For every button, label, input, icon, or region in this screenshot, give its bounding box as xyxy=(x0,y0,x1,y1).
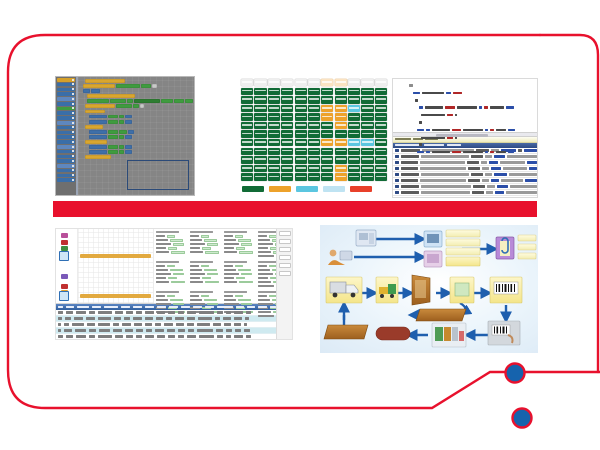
palette-block[interactable] xyxy=(57,78,75,82)
seat-cell[interactable] xyxy=(295,122,307,129)
form-field-value[interactable] xyxy=(241,243,252,246)
seat-cell[interactable] xyxy=(335,113,347,120)
form-field-row[interactable] xyxy=(156,295,188,298)
seat-cell[interactable] xyxy=(308,156,320,163)
seat-cell[interactable] xyxy=(295,105,307,112)
seat-cell[interactable] xyxy=(375,105,387,112)
seat-cell[interactable] xyxy=(241,130,253,137)
seat-cell[interactable] xyxy=(335,96,347,103)
seat-cell[interactable] xyxy=(268,148,280,155)
form-field-row[interactable] xyxy=(190,269,222,272)
form-field-row[interactable] xyxy=(156,299,188,302)
code-block[interactable] xyxy=(89,115,107,119)
seat-cell[interactable] xyxy=(268,156,280,163)
seat-cell[interactable] xyxy=(268,96,280,103)
seat-cell[interactable] xyxy=(241,165,253,172)
form-field-value[interactable] xyxy=(236,247,245,250)
block-row[interactable] xyxy=(79,145,193,149)
code-block[interactable] xyxy=(85,104,115,108)
code-block[interactable] xyxy=(89,150,107,154)
schedule-node[interactable] xyxy=(59,251,69,261)
form-field-row[interactable] xyxy=(156,277,188,280)
code-block[interactable] xyxy=(108,150,118,154)
seat-cell[interactable] xyxy=(361,79,373,86)
seat-cell[interactable] xyxy=(375,139,387,146)
form-field-row[interactable] xyxy=(224,295,256,298)
form-card[interactable] xyxy=(224,231,256,259)
sidebar-action-button[interactable] xyxy=(279,247,291,252)
seat-cell[interactable] xyxy=(241,105,253,112)
code-block[interactable] xyxy=(108,145,118,149)
schedule-rail[interactable] xyxy=(56,229,78,303)
palette-block[interactable] xyxy=(57,121,75,125)
seat-cell[interactable] xyxy=(308,130,320,137)
data-grid-column-header[interactable] xyxy=(169,306,178,308)
form-field-row[interactable] xyxy=(190,251,222,254)
seat-cell[interactable] xyxy=(295,156,307,163)
seat-cell[interactable] xyxy=(254,113,266,120)
schedule-marker[interactable] xyxy=(61,274,68,279)
seat-cell[interactable] xyxy=(308,139,320,146)
seat-cell[interactable] xyxy=(268,139,280,146)
sidebar-action-button[interactable] xyxy=(279,255,291,260)
code-block[interactable] xyxy=(85,155,111,159)
palette-block[interactable] xyxy=(57,92,75,96)
log-row[interactable] xyxy=(393,190,537,196)
code-block[interactable] xyxy=(140,104,144,108)
seat-cell[interactable] xyxy=(361,139,373,146)
seat-cell[interactable] xyxy=(321,79,333,86)
form-card[interactable] xyxy=(224,291,256,319)
form-card[interactable] xyxy=(156,261,188,289)
form-card[interactable] xyxy=(190,231,222,259)
palette-block[interactable] xyxy=(57,107,75,111)
form-field-row[interactable] xyxy=(190,243,222,246)
code-block[interactable] xyxy=(161,99,173,103)
form-field-row[interactable] xyxy=(190,265,222,268)
block-row[interactable] xyxy=(79,140,193,144)
seat-cell[interactable] xyxy=(321,148,333,155)
block-row[interactable] xyxy=(79,110,193,114)
data-grid-column-header[interactable] xyxy=(157,306,166,308)
block-row[interactable] xyxy=(79,79,193,83)
data-grid-column-header[interactable] xyxy=(104,306,118,308)
form-field-row[interactable] xyxy=(156,239,188,242)
form-field-value[interactable] xyxy=(170,239,183,242)
block-row[interactable] xyxy=(79,99,193,103)
palette-block[interactable] xyxy=(57,111,75,115)
code-block[interactable] xyxy=(119,120,124,124)
code-block[interactable] xyxy=(119,135,124,139)
code-block[interactable] xyxy=(174,99,184,103)
seat-cell[interactable] xyxy=(281,105,293,112)
form-field-value[interactable] xyxy=(205,281,219,284)
code-block[interactable] xyxy=(87,94,135,98)
form-field-row[interactable] xyxy=(190,281,222,284)
code-block[interactable] xyxy=(83,89,90,93)
code-block[interactable] xyxy=(85,125,103,129)
palette-block[interactable] xyxy=(57,135,75,139)
gantt-chart-area[interactable] xyxy=(78,229,154,303)
seat-cell[interactable] xyxy=(335,130,347,137)
form-field-value[interactable] xyxy=(239,281,253,284)
form-field-value[interactable] xyxy=(201,295,209,298)
data-grid-column-header[interactable] xyxy=(270,306,276,308)
data-grid-column-header[interactable] xyxy=(205,306,214,308)
seat-cell[interactable] xyxy=(348,105,360,112)
form-field-row[interactable] xyxy=(224,277,256,280)
seat-cell[interactable] xyxy=(254,130,266,137)
seat-cell[interactable] xyxy=(361,148,373,155)
form-field-value[interactable] xyxy=(241,303,252,306)
form-field-value[interactable] xyxy=(238,269,251,272)
seat-cell[interactable] xyxy=(295,113,307,120)
form-field-row[interactable] xyxy=(190,235,222,238)
form-field-value[interactable] xyxy=(167,235,175,238)
seat-cell[interactable] xyxy=(361,173,373,180)
seat-cell[interactable] xyxy=(375,156,387,163)
seat-cell[interactable] xyxy=(281,165,293,172)
seat-cell[interactable] xyxy=(254,148,266,155)
seat-cell[interactable] xyxy=(241,148,253,155)
form-field-value[interactable] xyxy=(170,299,183,302)
gantt-bar[interactable] xyxy=(80,254,151,258)
block-row[interactable] xyxy=(79,94,193,98)
seat-cell[interactable] xyxy=(321,105,333,112)
seat-cell[interactable] xyxy=(254,165,266,172)
code-block[interactable] xyxy=(141,84,151,88)
code-block[interactable] xyxy=(91,89,100,93)
seat-cell[interactable] xyxy=(254,139,266,146)
data-grid-column-header[interactable] xyxy=(92,306,101,308)
seat-cell[interactable] xyxy=(361,96,373,103)
seat-cell[interactable] xyxy=(281,139,293,146)
seat-cell[interactable] xyxy=(295,139,307,146)
seat-cell[interactable] xyxy=(308,88,320,95)
form-field-value[interactable] xyxy=(207,243,218,246)
seat-cell[interactable] xyxy=(308,173,320,180)
form-field-value[interactable] xyxy=(202,277,211,280)
seat-cell[interactable] xyxy=(295,96,307,103)
code-block[interactable] xyxy=(89,120,107,124)
form-field-row[interactable] xyxy=(224,269,256,272)
form-field-row[interactable] xyxy=(224,247,256,250)
schedule-marker[interactable] xyxy=(61,240,68,245)
form-card[interactable] xyxy=(156,231,188,259)
code-block[interactable] xyxy=(108,115,118,119)
scrollbar-thumb[interactable] xyxy=(436,134,488,137)
seat-cell[interactable] xyxy=(348,139,360,146)
seat-cell[interactable] xyxy=(254,156,266,163)
seat-cell[interactable] xyxy=(268,173,280,180)
seat-cell[interactable] xyxy=(241,139,253,146)
seat-cell[interactable] xyxy=(348,96,360,103)
block-row[interactable] xyxy=(79,130,193,134)
seat-cell[interactable] xyxy=(281,130,293,137)
palette-block[interactable] xyxy=(57,102,75,106)
seat-cell[interactable] xyxy=(335,148,347,155)
data-grid-column-header[interactable] xyxy=(66,306,74,308)
form-field-value[interactable] xyxy=(239,251,253,254)
palette-block[interactable] xyxy=(57,155,75,159)
form-field-row[interactable] xyxy=(190,299,222,302)
form-field-row[interactable] xyxy=(156,247,188,250)
code-block[interactable] xyxy=(110,99,126,103)
palette-block[interactable] xyxy=(57,116,75,120)
seat-cell[interactable] xyxy=(241,96,253,103)
form-field-row[interactable] xyxy=(224,265,256,268)
schedule-marker[interactable] xyxy=(61,284,68,289)
seat-cell[interactable] xyxy=(335,165,347,172)
code-block[interactable] xyxy=(119,150,124,154)
code-block[interactable] xyxy=(108,135,118,139)
block-row[interactable] xyxy=(79,125,193,129)
seat-cell[interactable] xyxy=(335,79,347,86)
seat-cell[interactable] xyxy=(361,156,373,163)
form-field-value[interactable] xyxy=(201,265,209,268)
palette-block[interactable] xyxy=(57,159,75,163)
block-row[interactable] xyxy=(79,150,193,154)
seat-cell[interactable] xyxy=(335,122,347,129)
seat-cell[interactable] xyxy=(348,88,360,95)
seat-cell[interactable] xyxy=(361,165,373,172)
block-row[interactable] xyxy=(79,84,193,88)
seat-cell[interactable] xyxy=(375,79,387,86)
form-field-value[interactable] xyxy=(235,265,243,268)
seat-cell[interactable] xyxy=(361,130,373,137)
seat-cell[interactable] xyxy=(268,165,280,172)
block-row[interactable] xyxy=(79,120,193,124)
code-block[interactable] xyxy=(89,130,107,134)
form-field-value[interactable] xyxy=(173,243,184,246)
form-card[interactable] xyxy=(156,291,188,319)
form-field-row[interactable] xyxy=(190,295,222,298)
seat-cell[interactable] xyxy=(375,96,387,103)
seat-cell[interactable] xyxy=(348,173,360,180)
schedule-node[interactable] xyxy=(59,291,69,301)
form-field-row[interactable] xyxy=(224,273,256,276)
palette-block[interactable] xyxy=(57,178,75,182)
form-field-value[interactable] xyxy=(171,251,185,254)
form-field-row[interactable] xyxy=(224,303,256,306)
form-field-value[interactable] xyxy=(235,235,243,238)
form-field-row[interactable] xyxy=(156,235,188,238)
seat-cell[interactable] xyxy=(268,113,280,120)
seat-cell[interactable] xyxy=(254,88,266,95)
form-field-value[interactable] xyxy=(202,247,211,250)
seat-cell[interactable] xyxy=(348,156,360,163)
code-block[interactable] xyxy=(125,135,132,139)
form-field-row[interactable] xyxy=(156,269,188,272)
form-field-row[interactable] xyxy=(156,281,188,284)
code-block[interactable] xyxy=(116,84,140,88)
seat-cell[interactable] xyxy=(375,165,387,172)
data-grid-column-header[interactable] xyxy=(258,306,267,308)
seat-cell[interactable] xyxy=(348,113,360,120)
palette-block[interactable] xyxy=(57,97,75,101)
code-block[interactable] xyxy=(108,130,118,134)
seat-cell[interactable] xyxy=(321,88,333,95)
block-row[interactable] xyxy=(79,89,193,93)
seat-cell[interactable] xyxy=(241,156,253,163)
form-field-row[interactable] xyxy=(224,239,256,242)
palette-block[interactable] xyxy=(57,126,75,130)
code-block[interactable] xyxy=(87,99,109,103)
seat-cell[interactable] xyxy=(295,79,307,86)
seat-cell[interactable] xyxy=(348,122,360,129)
code-block[interactable] xyxy=(89,145,107,149)
seat-cell[interactable] xyxy=(335,88,347,95)
data-grid-column-header[interactable] xyxy=(247,306,255,308)
code-block[interactable] xyxy=(89,135,107,139)
form-field-row[interactable] xyxy=(190,273,222,276)
form-field-value[interactable] xyxy=(241,273,252,276)
form-field-row[interactable] xyxy=(156,265,188,268)
code-block[interactable] xyxy=(152,84,157,88)
palette-block[interactable] xyxy=(57,88,75,92)
block-row[interactable] xyxy=(79,135,193,139)
seat-cell[interactable] xyxy=(361,105,373,112)
seat-cell[interactable] xyxy=(308,122,320,129)
seat-cell[interactable] xyxy=(268,105,280,112)
seat-cell[interactable] xyxy=(295,88,307,95)
seat-cell[interactable] xyxy=(308,105,320,112)
schedule-marker[interactable] xyxy=(61,233,68,238)
seat-cell[interactable] xyxy=(308,96,320,103)
block-row[interactable] xyxy=(79,104,193,108)
palette-block[interactable] xyxy=(57,164,75,168)
seat-cell[interactable] xyxy=(375,173,387,180)
seat-cell[interactable] xyxy=(281,96,293,103)
seat-cell[interactable] xyxy=(295,130,307,137)
seat-cell[interactable] xyxy=(241,88,253,95)
seat-cell[interactable] xyxy=(335,156,347,163)
form-field-value[interactable] xyxy=(201,235,209,238)
seat-cell[interactable] xyxy=(321,122,333,129)
seat-cell[interactable] xyxy=(241,79,253,86)
code-block[interactable] xyxy=(83,84,115,88)
form-field-row[interactable] xyxy=(156,243,188,246)
form-field-value[interactable] xyxy=(207,273,218,276)
seat-grid[interactable] xyxy=(240,78,388,182)
seat-cell[interactable] xyxy=(268,122,280,129)
form-field-row[interactable] xyxy=(156,251,188,254)
horizontal-scrollbar[interactable] xyxy=(393,132,537,137)
palette-block[interactable] xyxy=(57,83,75,87)
form-field-value[interactable] xyxy=(168,247,177,250)
code-block[interactable] xyxy=(127,99,133,103)
code-block[interactable] xyxy=(85,110,105,114)
seat-cell[interactable] xyxy=(335,139,347,146)
seat-cell[interactable] xyxy=(361,88,373,95)
seat-cell[interactable] xyxy=(254,96,266,103)
blocks-palette[interactable] xyxy=(56,77,76,195)
palette-block[interactable] xyxy=(57,169,75,173)
code-block[interactable] xyxy=(119,145,124,149)
palette-block[interactable] xyxy=(57,174,75,178)
code-block[interactable] xyxy=(133,104,139,108)
form-field-value[interactable] xyxy=(236,277,245,280)
sidebar-buttons-pane[interactable] xyxy=(276,229,292,339)
block-row[interactable] xyxy=(79,115,193,119)
code-block[interactable] xyxy=(85,140,107,144)
form-field-value[interactable] xyxy=(167,295,175,298)
code-block[interactable] xyxy=(128,130,134,134)
seat-cell[interactable] xyxy=(281,148,293,155)
seat-cell[interactable] xyxy=(348,79,360,86)
data-grid-column-header[interactable] xyxy=(181,306,190,308)
form-field-value[interactable] xyxy=(238,239,251,242)
seat-cell[interactable] xyxy=(335,105,347,112)
seat-cell[interactable] xyxy=(281,113,293,120)
form-cards-area[interactable] xyxy=(154,229,292,303)
seat-cell[interactable] xyxy=(335,173,347,180)
data-grid-column-header[interactable] xyxy=(145,306,154,308)
data-grid-column-header[interactable] xyxy=(236,306,244,308)
seat-cell[interactable] xyxy=(321,113,333,120)
data-grid-column-header[interactable] xyxy=(77,306,89,308)
seat-cell[interactable] xyxy=(281,88,293,95)
form-field-row[interactable] xyxy=(224,251,256,254)
seat-cell[interactable] xyxy=(241,173,253,180)
form-field-row[interactable] xyxy=(190,303,222,306)
code-block[interactable] xyxy=(185,99,193,103)
form-field-value[interactable] xyxy=(204,269,217,272)
code-block[interactable] xyxy=(125,120,132,124)
form-field-row[interactable] xyxy=(156,273,188,276)
seat-cell[interactable] xyxy=(281,173,293,180)
form-field-row[interactable] xyxy=(224,281,256,284)
form-card[interactable] xyxy=(190,261,222,289)
seat-cell[interactable] xyxy=(308,148,320,155)
seat-cell[interactable] xyxy=(281,156,293,163)
form-field-row[interactable] xyxy=(190,277,222,280)
seat-cell[interactable] xyxy=(295,173,307,180)
data-grid-column-header[interactable] xyxy=(121,306,130,308)
seat-cell[interactable] xyxy=(254,79,266,86)
code-block[interactable] xyxy=(125,145,132,149)
data-grid-column-header[interactable] xyxy=(133,306,142,308)
form-field-value[interactable] xyxy=(173,273,184,276)
form-field-value[interactable] xyxy=(238,299,251,302)
seat-cell[interactable] xyxy=(375,130,387,137)
seat-cell[interactable] xyxy=(241,122,253,129)
seat-cell[interactable] xyxy=(281,79,293,86)
seat-cell[interactable] xyxy=(268,130,280,137)
seat-cell[interactable] xyxy=(308,165,320,172)
seat-cell[interactable] xyxy=(375,113,387,120)
form-field-row[interactable] xyxy=(224,243,256,246)
gantt-bar[interactable] xyxy=(80,294,151,298)
form-field-value[interactable] xyxy=(168,277,177,280)
log-output-list[interactable] xyxy=(393,148,537,196)
seat-cell[interactable] xyxy=(254,122,266,129)
seat-cell[interactable] xyxy=(348,165,360,172)
seat-cell[interactable] xyxy=(361,122,373,129)
seat-cell[interactable] xyxy=(254,173,266,180)
form-field-value[interactable] xyxy=(207,303,218,306)
seat-cell[interactable] xyxy=(308,79,320,86)
seat-cell[interactable] xyxy=(375,122,387,129)
blocks-workspace[interactable] xyxy=(78,77,194,195)
code-block[interactable] xyxy=(119,115,124,119)
seat-cell[interactable] xyxy=(268,88,280,95)
code-block[interactable] xyxy=(125,150,132,154)
seat-cell[interactable] xyxy=(375,148,387,155)
palette-block[interactable] xyxy=(57,131,75,135)
sidebar-action-button[interactable] xyxy=(279,231,291,236)
palette-block[interactable] xyxy=(57,145,75,149)
